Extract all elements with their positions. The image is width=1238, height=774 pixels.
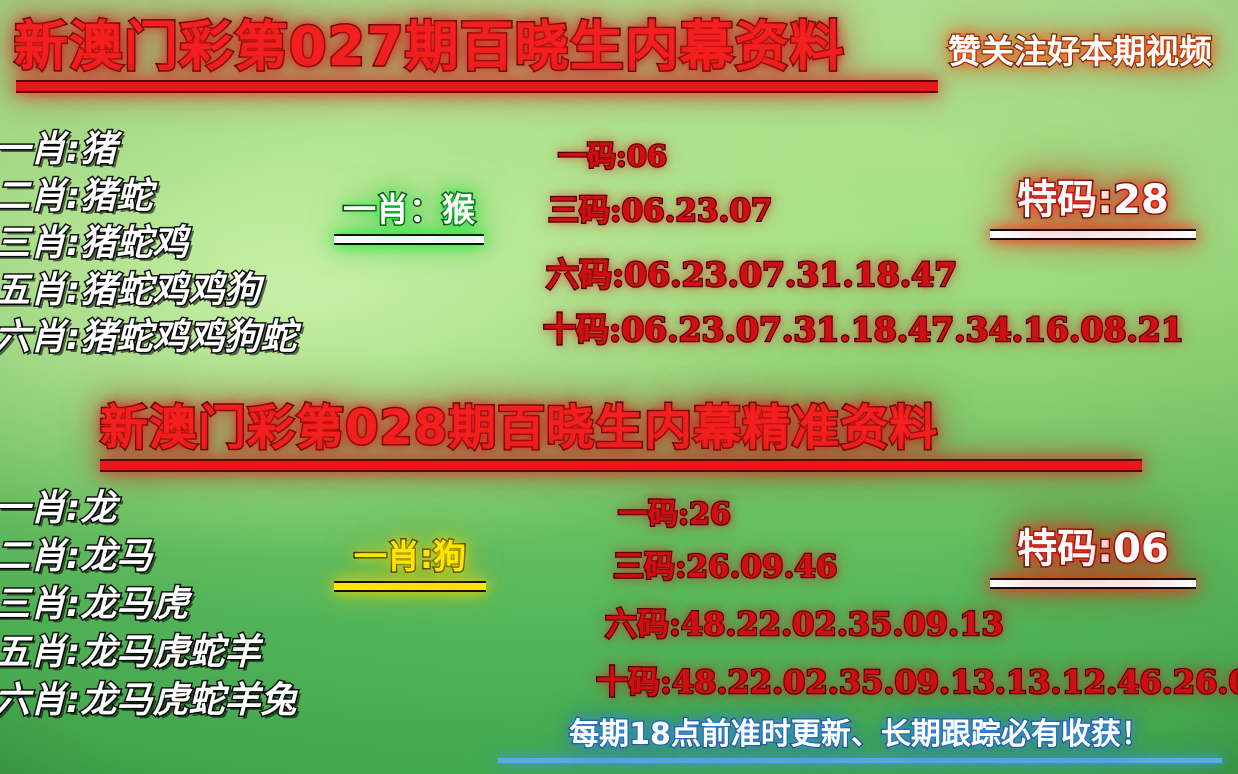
code-value: 48.22.02.35.09.13.13.12.46.26.03 <box>672 663 1238 701</box>
code-line-027-1: 一码:06 <box>558 138 667 174</box>
pick-badge-027: 一肖：猴 <box>334 190 484 245</box>
section-title-028-rule <box>100 459 1142 472</box>
pick-badge-028-rule <box>334 581 486 592</box>
code-line-028-6: 六码:48.22.02.35.09.13 <box>605 605 1004 644</box>
zodiac-row: 二肖:龙马 <box>0 533 296 581</box>
code-line-027-3: 三码:06.23.07 <box>548 192 772 230</box>
poster-canvas: 新澳门彩第027期百晓生内幕资料 赞关注好本期视频 一肖:猪 二肖:猪蛇 三肖:… <box>0 0 1238 774</box>
special-label: 特码: <box>1017 177 1113 223</box>
footer-note: 每期18点前准时更新、长期跟踪必有收获！ <box>498 716 1222 763</box>
pick-badge-027-rule <box>334 234 484 245</box>
code-value: 26.09.46 <box>686 549 837 585</box>
zodiac-row: 一肖:龙 <box>0 485 296 533</box>
footer-note-rule <box>498 758 1222 763</box>
code-label: 六码: <box>546 255 624 294</box>
pick-badge-028: 一肖:狗 <box>334 537 486 592</box>
zodiac-row: 六肖:龙马虎蛇羊兔 <box>0 677 296 725</box>
code-line-028-1: 一码:26 <box>618 496 731 533</box>
special-code-027-text: 特码:28 <box>990 176 1196 224</box>
code-line-027-10: 十码:06.23.07.31.18.47.34.16.08.21 <box>543 310 1184 350</box>
code-line-028-3: 三码:26.09.46 <box>613 548 837 586</box>
zodiac-row: 三肖:猪蛇鸡 <box>0 220 296 267</box>
code-line-027-6: 六码:06.23.07.31.18.47 <box>546 255 957 295</box>
code-label: 十码: <box>543 310 621 349</box>
code-value: 06 <box>627 139 667 173</box>
pick-badge-027-label: 一肖：猴 <box>334 190 484 230</box>
code-value: 06.23.07.31.18.47 <box>624 255 957 294</box>
special-label: 特码: <box>1017 526 1113 572</box>
code-value: 48.22.02.35.09.13 <box>681 605 1004 643</box>
special-value: 28 <box>1113 177 1169 223</box>
code-value: 06.23.07 <box>621 193 772 229</box>
special-value: 06 <box>1113 526 1169 572</box>
zodiac-list-028: 一肖:龙 二肖:龙马 三肖:龙马虎 五肖:龙马虎蛇羊 六肖:龙马虎蛇羊兔 <box>0 485 296 725</box>
zodiac-row: 六肖:猪蛇鸡鸡狗蛇 <box>0 314 296 361</box>
special-code-027-rule <box>990 229 1196 240</box>
section-title-028: 新澳门彩第028期百晓生内幕精准资料 <box>100 400 938 456</box>
footer-note-text: 每期18点前准时更新、长期跟踪必有收获！ <box>498 716 1222 754</box>
zodiac-row: 二肖:猪蛇 <box>0 173 296 220</box>
zodiac-row: 三肖:龙马虎 <box>0 581 296 629</box>
section-title-027: 新澳门彩第027期百晓生内幕资料 <box>14 16 845 78</box>
code-label: 六码: <box>605 605 681 643</box>
special-code-028: 特码:06 <box>990 525 1196 589</box>
zodiac-row: 五肖:龙马虎蛇羊 <box>0 629 296 677</box>
special-code-028-rule <box>990 578 1196 589</box>
code-value: 26 <box>689 497 731 532</box>
code-label: 一码: <box>558 139 627 173</box>
zodiac-row: 一肖:猪 <box>0 126 296 173</box>
zodiac-list-027: 一肖:猪 二肖:猪蛇 三肖:猪蛇鸡 五肖:猪蛇鸡鸡狗 六肖:猪蛇鸡鸡狗蛇 <box>0 126 296 361</box>
code-label: 三码: <box>613 549 686 585</box>
code-label: 三码: <box>548 193 621 229</box>
code-line-028-10: 十码:48.22.02.35.09.13.13.12.46.26.03 <box>596 663 1238 702</box>
special-code-027: 特码:28 <box>990 176 1196 240</box>
pick-badge-028-label: 一肖:狗 <box>334 537 486 577</box>
special-code-028-text: 特码:06 <box>990 525 1196 573</box>
code-label: 一码: <box>618 497 689 532</box>
section-title-027-rule <box>16 80 938 93</box>
code-label: 十码: <box>596 663 672 701</box>
code-value: 06.23.07.31.18.47.34.16.08.21 <box>621 310 1184 349</box>
zodiac-row: 五肖:猪蛇鸡鸡狗 <box>0 267 296 314</box>
promo-text: 赞关注好本期视频 <box>948 32 1212 72</box>
